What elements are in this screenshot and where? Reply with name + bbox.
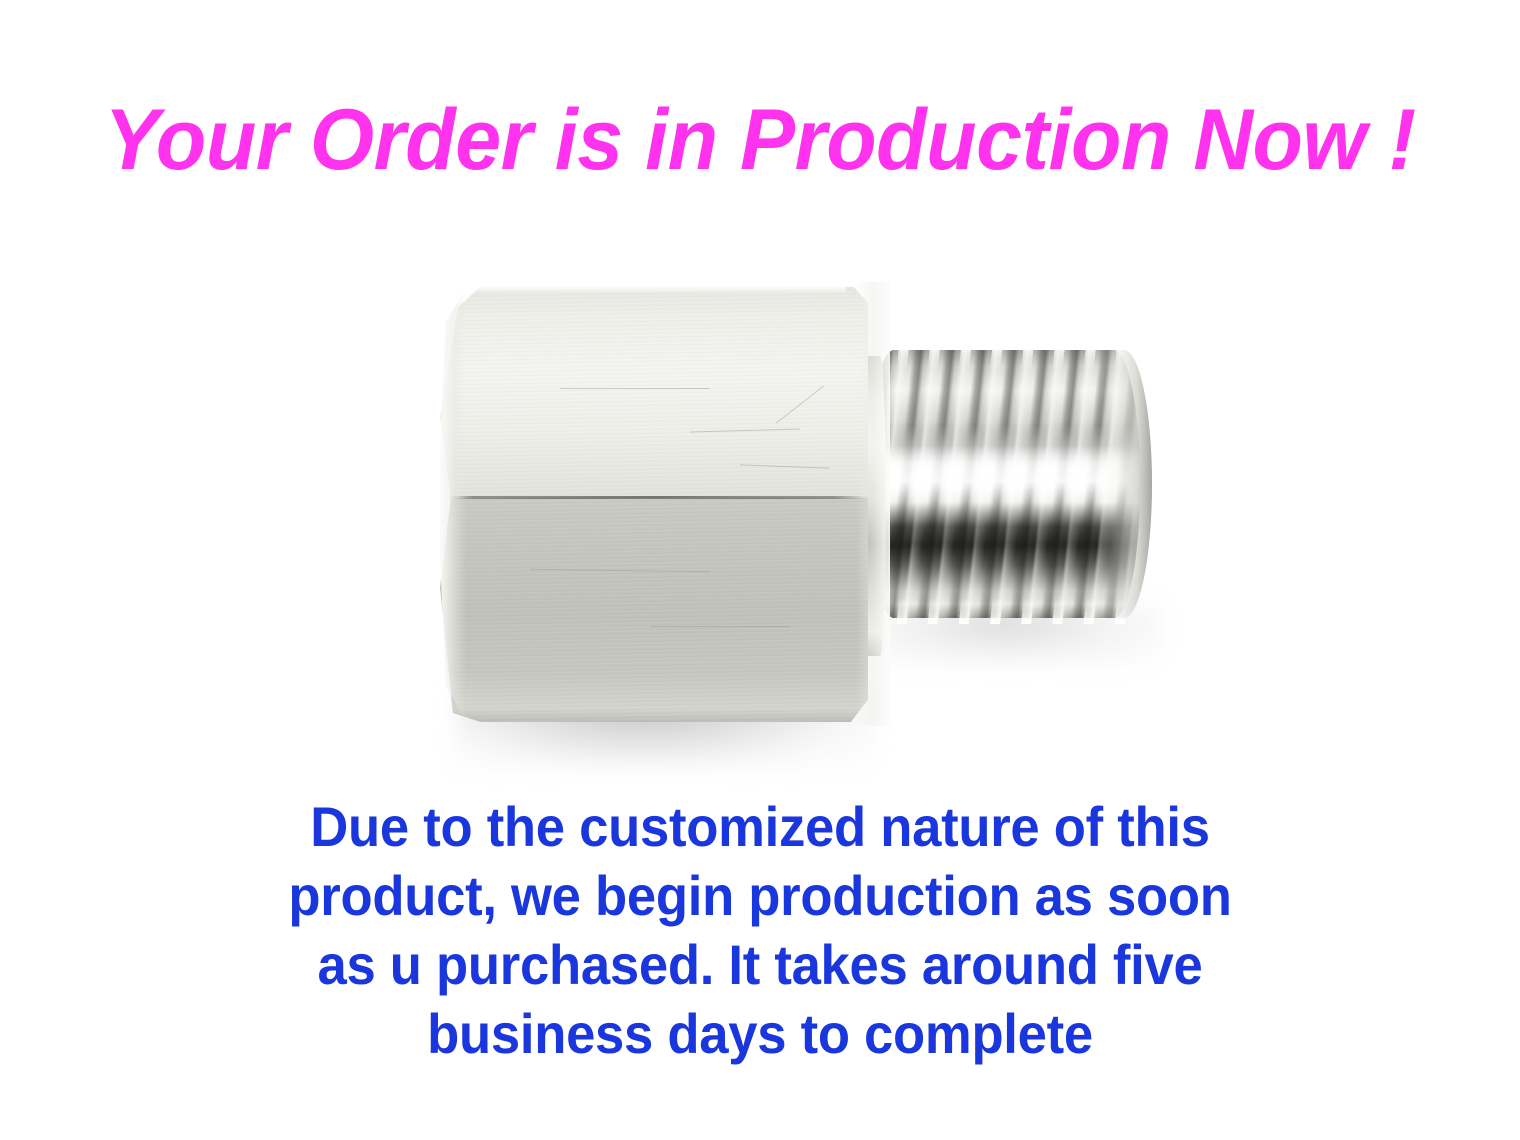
body-copy: Due to the customized nature of this pro… bbox=[0, 792, 1520, 1068]
body-copy-line: Due to the customized nature of this bbox=[46, 792, 1475, 861]
page-title: Your Order is in Production Now ! bbox=[30, 92, 1489, 188]
product-photo bbox=[0, 210, 1520, 770]
hex-chamfer-right bbox=[856, 282, 890, 726]
hex-chamfer-left bbox=[440, 288, 466, 720]
body-copy-line: business days to complete bbox=[46, 999, 1475, 1068]
hex-tool-mark bbox=[560, 388, 710, 389]
hex-top-lip bbox=[474, 286, 846, 293]
threaded-nipple bbox=[862, 338, 1152, 630]
thread-end-cap bbox=[1098, 350, 1152, 618]
body-copy-line: as u purchased. It takes around five bbox=[46, 930, 1475, 999]
body-copy-line: product, we begin production as soon bbox=[46, 861, 1475, 930]
promo-banner: Your Order is in Production Now ! bbox=[0, 0, 1520, 1140]
hex-adapter-body bbox=[440, 270, 890, 750]
hex-brushed-texture bbox=[444, 288, 868, 722]
hex-tool-mark bbox=[650, 626, 790, 627]
